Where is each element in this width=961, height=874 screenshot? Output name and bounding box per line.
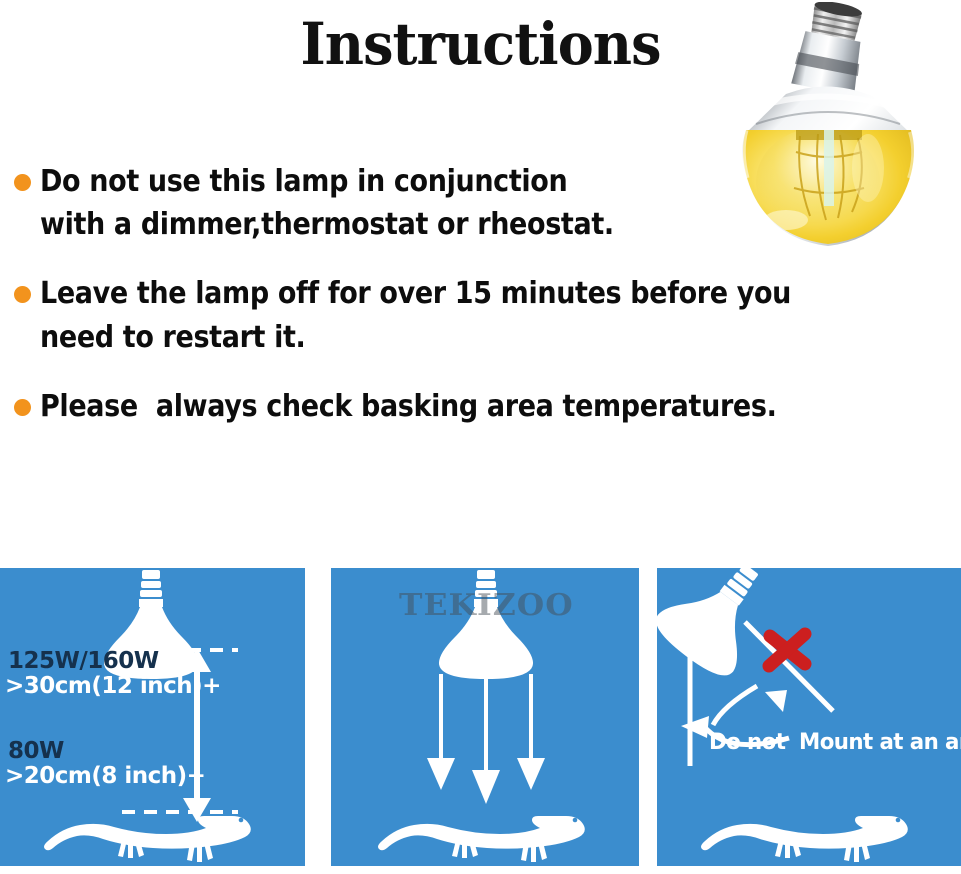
panel-light-direction	[331, 568, 639, 866]
lizard-icon	[378, 816, 585, 862]
tilt-axis-line	[745, 622, 833, 711]
diagram-panel-strip	[0, 568, 961, 867]
panel-mounting-distance	[0, 568, 305, 866]
instruction-text: Do not use this lamp in conjunction with…	[40, 160, 614, 246]
instruction-list: Do not use this lamp in conjunction with…	[14, 160, 944, 454]
do-not-angle-caption: Do not Mount at an angle	[709, 730, 961, 755]
distance-label-high: >30cm(12 inch)+	[5, 673, 221, 699]
bullet-dot-icon	[14, 174, 31, 191]
panel-do-not-angle	[657, 568, 961, 866]
lizard-icon	[701, 816, 908, 862]
instruction-text: Please always check basking area tempera…	[40, 385, 776, 428]
instruction-text: Leave the lamp off for over 15 minutes b…	[40, 272, 791, 358]
bullet-dot-icon	[14, 399, 31, 416]
wattage-label-low: 80W	[8, 738, 64, 764]
light-ray-arrow-icon	[427, 674, 545, 804]
lizard-icon	[44, 816, 251, 862]
list-item: Leave the lamp off for over 15 minutes b…	[14, 272, 944, 358]
list-item: Please always check basking area tempera…	[14, 385, 944, 428]
bulb-icon	[439, 570, 533, 679]
instructions-page: Instructions	[0, 0, 961, 874]
wattage-label-high: 125W/160W	[8, 648, 159, 674]
bullet-dot-icon	[14, 286, 31, 303]
list-item: Do not use this lamp in conjunction with…	[14, 160, 944, 246]
distance-label-low: >20cm(8 inch)+	[5, 763, 205, 789]
